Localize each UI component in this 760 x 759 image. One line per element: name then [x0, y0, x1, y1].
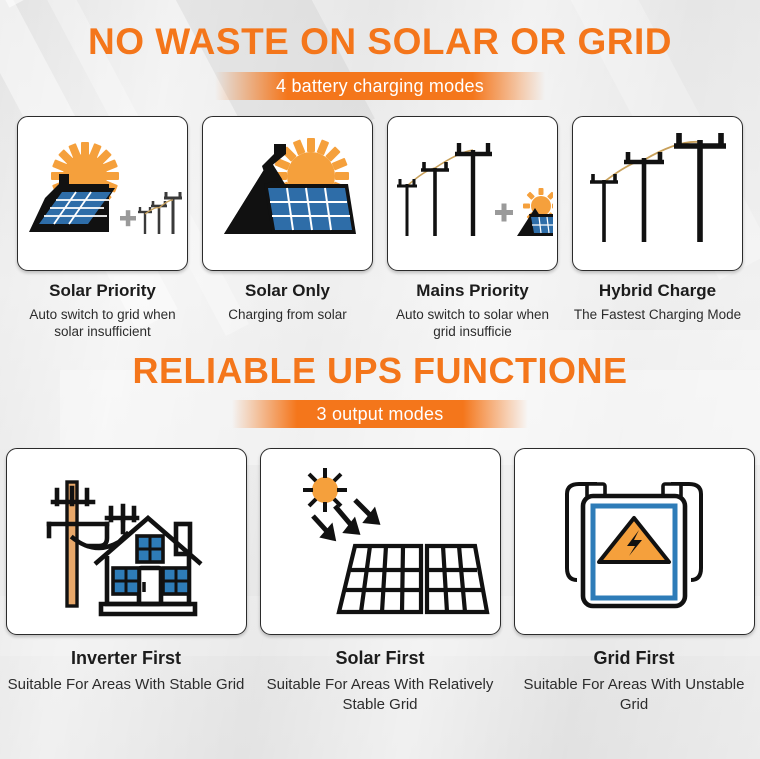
battery-high-voltage-icon	[523, 456, 745, 628]
card-mains-priority[interactable]: Mains Priority Auto switch to solar when…	[387, 116, 558, 340]
card-solar-first[interactable]: Solar First Suitable For Areas With Rela…	[260, 448, 501, 715]
badge-row-charging: 4 battery charging modes	[0, 64, 760, 100]
card-title: Grid First	[593, 648, 674, 669]
card-description: Auto switch to solar when grid insuffici…	[387, 306, 558, 340]
section-title-ups: RELIABLE UPS FUNCTIONE	[0, 340, 760, 392]
card-description: Suitable For Areas With Unstable Grid	[514, 675, 755, 715]
output-mode-card-row: Inverter First Suitable For Areas With S…	[0, 448, 760, 715]
card-solar-priority[interactable]: Solar Priority Auto switch to grid when …	[17, 116, 188, 340]
card-icon-frame	[514, 448, 755, 635]
power-lines-plus-solar-icon	[393, 124, 553, 264]
card-icon-frame	[572, 116, 743, 271]
card-solar-only[interactable]: Solar Only Charging from solar	[202, 116, 373, 340]
section-title-charging: NO WASTE ON SOLAR OR GRID	[0, 0, 760, 64]
house-solar-roof-sun-icon	[208, 124, 368, 264]
card-title: Solar First	[335, 648, 424, 669]
card-title: Solar Priority	[49, 281, 156, 301]
badge-charging-modes: 4 battery charging modes	[215, 72, 545, 100]
card-hybrid-charge[interactable]: Hybrid Charge The Fastest Charging Mode	[572, 116, 743, 340]
card-title: Inverter First	[71, 648, 181, 669]
card-title: Hybrid Charge	[599, 281, 716, 301]
badge-row-output: 3 output modes	[0, 392, 760, 428]
power-lines-icon	[578, 124, 738, 264]
card-title: Solar Only	[245, 281, 330, 301]
card-title: Mains Priority	[416, 281, 528, 301]
card-grid-first[interactable]: Grid First Suitable For Areas With Unsta…	[514, 448, 755, 715]
card-icon-frame	[387, 116, 558, 271]
sun-rays-solar-array-icon	[269, 456, 491, 628]
badge-label: 4 battery charging modes	[276, 76, 484, 97]
card-icon-frame	[260, 448, 501, 635]
charging-mode-card-row: Solar Priority Auto switch to grid when …	[0, 116, 760, 340]
infographic-page: NO WASTE ON SOLAR OR GRID 4 battery char…	[0, 0, 760, 715]
solar-panel-plus-grid-icon	[23, 124, 183, 264]
card-description: Auto switch to grid when solar insuffici…	[17, 306, 188, 340]
card-icon-frame	[17, 116, 188, 271]
badge-label: 3 output modes	[317, 404, 444, 425]
card-inverter-first[interactable]: Inverter First Suitable For Areas With S…	[6, 448, 247, 715]
card-icon-frame	[202, 116, 373, 271]
card-description: Charging from solar	[228, 306, 347, 323]
card-description: The Fastest Charging Mode	[574, 306, 741, 323]
utility-pole-house-icon	[15, 456, 237, 628]
badge-output-modes: 3 output modes	[232, 400, 528, 428]
card-description: Suitable For Areas With Stable Grid	[8, 675, 245, 695]
card-description: Suitable For Areas With Relatively Stabl…	[260, 675, 501, 715]
card-icon-frame	[6, 448, 247, 635]
